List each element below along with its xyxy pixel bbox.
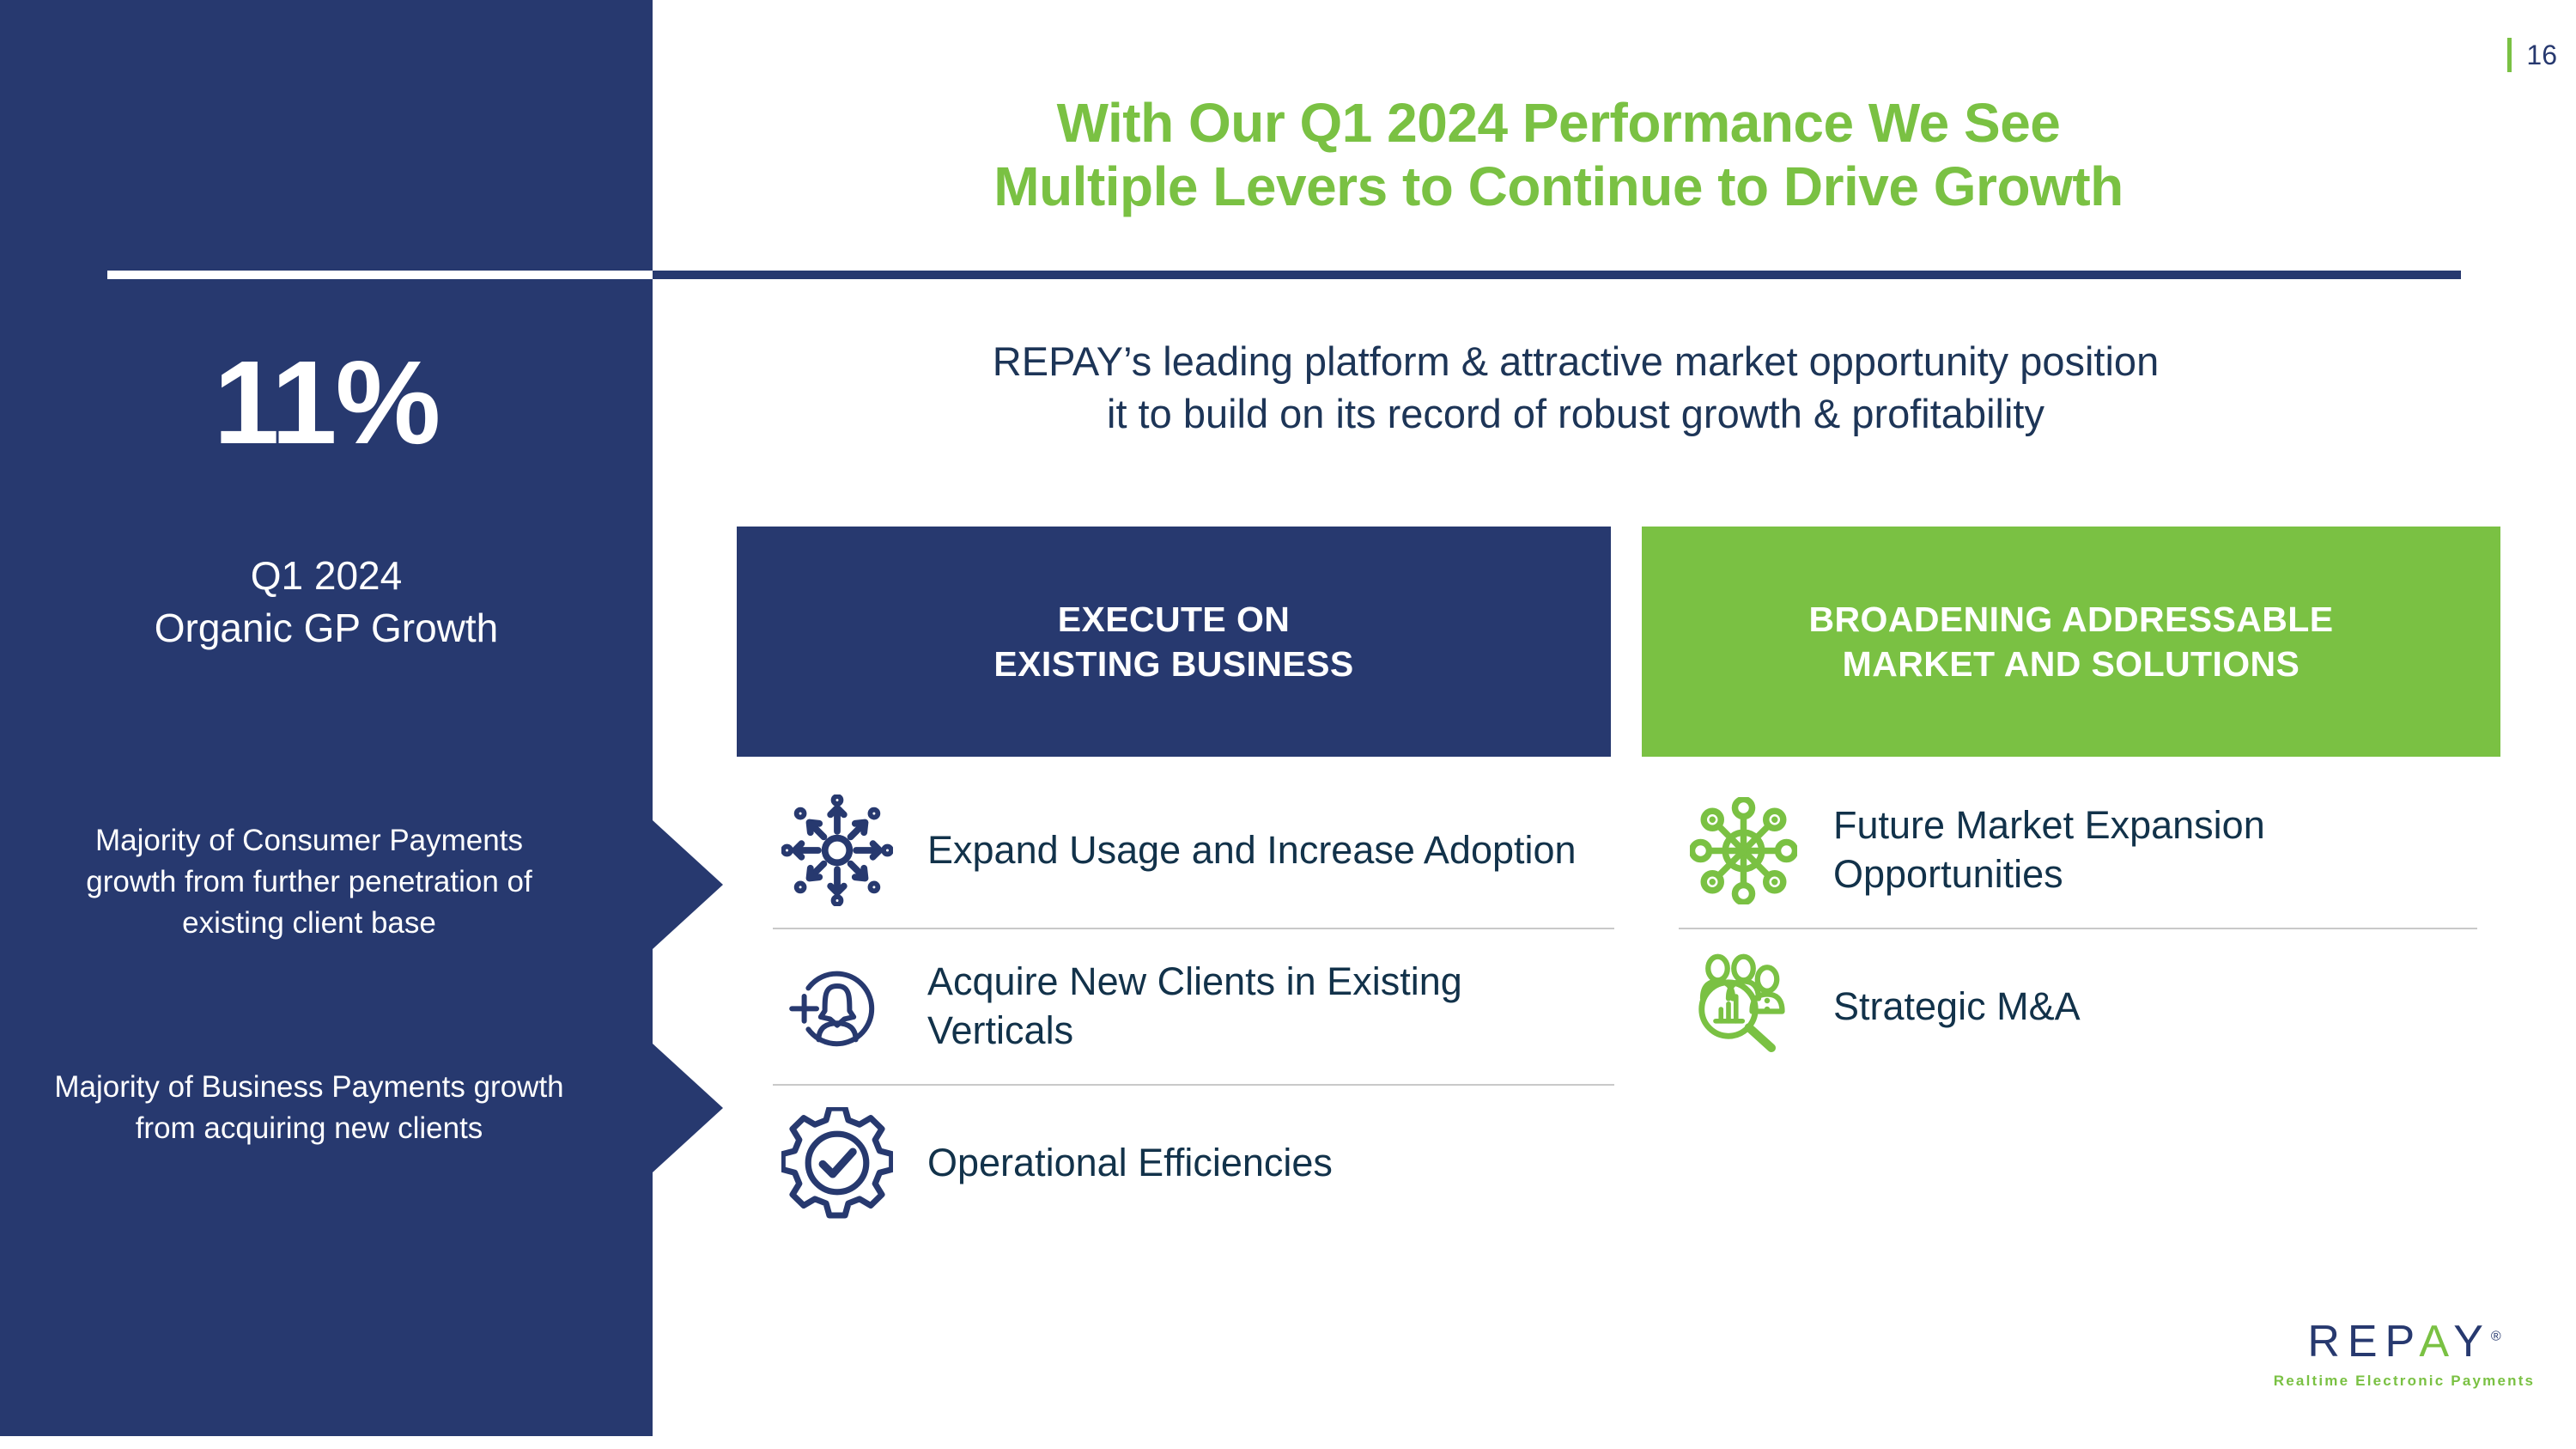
- page-number-tick: [2507, 38, 2512, 72]
- expand-arrows-icon: [773, 795, 902, 906]
- logo-part-3: Y: [2453, 1317, 2491, 1367]
- stat-value: 11%: [0, 344, 653, 462]
- logo-part-1: REP: [2307, 1317, 2419, 1367]
- list-item[interactable]: Expand Usage and Increase Adoption: [773, 773, 1614, 928]
- sidebar-note-2: Majority of Business Payments growth fro…: [52, 1067, 567, 1149]
- banner-right-line-2: MARKET AND SOLUTIONS: [1809, 642, 2334, 686]
- title-rule-right: [653, 271, 2461, 279]
- network-hub-icon: [1679, 797, 1807, 904]
- gear-check-icon: [773, 1107, 902, 1219]
- stat-caption: Q1 2024 Organic GP Growth: [0, 550, 653, 654]
- add-user-icon: [773, 955, 902, 1058]
- list-item[interactable]: Future Market Expansion Opportunities: [1679, 773, 2477, 928]
- magnifier-chart-people-icon: [1679, 953, 1807, 1061]
- logo-wordmark: REPAY®: [2258, 1319, 2550, 1364]
- logo-tagline: Realtime Electronic Payments: [2258, 1373, 2550, 1390]
- title-rule-left: [107, 271, 653, 279]
- list-item-label: Acquire New Clients in Existing Vertical…: [902, 958, 1614, 1055]
- sidebar-note-1: Majority of Consumer Payments growth fro…: [52, 820, 567, 944]
- list-item[interactable]: Operational Efficiencies: [773, 1086, 1614, 1240]
- page-title-line-2: Multiple Levers to Continue to Drive Gro…: [653, 155, 2464, 218]
- logo-part-2: A: [2419, 1317, 2453, 1367]
- list-item-label: Expand Usage and Increase Adoption: [902, 826, 1577, 875]
- list-item[interactable]: Strategic M&A: [1679, 929, 2477, 1084]
- sidebar-panel: [0, 0, 653, 1436]
- sidebar-arrow-tab-1: [653, 820, 723, 949]
- list-item-label: Strategic M&A: [1807, 983, 2081, 1032]
- stat-caption-line-1: Q1 2024: [0, 550, 653, 602]
- banner-left-line-2: EXISTING BUSINESS: [993, 642, 1353, 686]
- banner-left-line-1: EXECUTE ON: [993, 597, 1353, 642]
- banner-execute-on-existing-business: EXECUTE ON EXISTING BUSINESS: [737, 527, 1611, 757]
- list-item-label: Future Market Expansion Opportunities: [1807, 801, 2477, 898]
- sidebar-arrow-tab-2: [653, 1044, 723, 1172]
- page-title: With Our Q1 2024 Performance We See Mult…: [653, 91, 2464, 218]
- banner-broadening-addressable-market: BROADENING ADDRESSABLE MARKET AND SOLUTI…: [1642, 527, 2500, 757]
- slide: 11% Q1 2024 Organic GP Growth Majority o…: [0, 0, 2576, 1449]
- page-subtitle-line-1: REPAY’s leading platform & attractive ma…: [678, 335, 2473, 387]
- list-item-label: Operational Efficiencies: [902, 1139, 1333, 1188]
- page-title-line-1: With Our Q1 2024 Performance We See: [653, 91, 2464, 155]
- page-number: 16: [2526, 38, 2557, 72]
- column-broadening-addressable-market: Future Market Expansion Opportunities: [1679, 773, 2477, 1084]
- list-item[interactable]: Acquire New Clients in Existing Vertical…: [773, 929, 1614, 1084]
- repay-logo: REPAY® Realtime Electronic Payments: [2258, 1319, 2550, 1390]
- banner-right-line-1: BROADENING ADDRESSABLE: [1809, 597, 2334, 642]
- page-subtitle: REPAY’s leading platform & attractive ma…: [678, 335, 2473, 440]
- page-subtitle-line-2: it to build on its record of robust grow…: [678, 387, 2473, 440]
- stat-caption-line-2: Organic GP Growth: [0, 602, 653, 654]
- logo-trademark: ®: [2491, 1330, 2501, 1344]
- column-execute-on-existing-business: Expand Usage and Increase Adoption Acqui…: [773, 773, 1614, 1240]
